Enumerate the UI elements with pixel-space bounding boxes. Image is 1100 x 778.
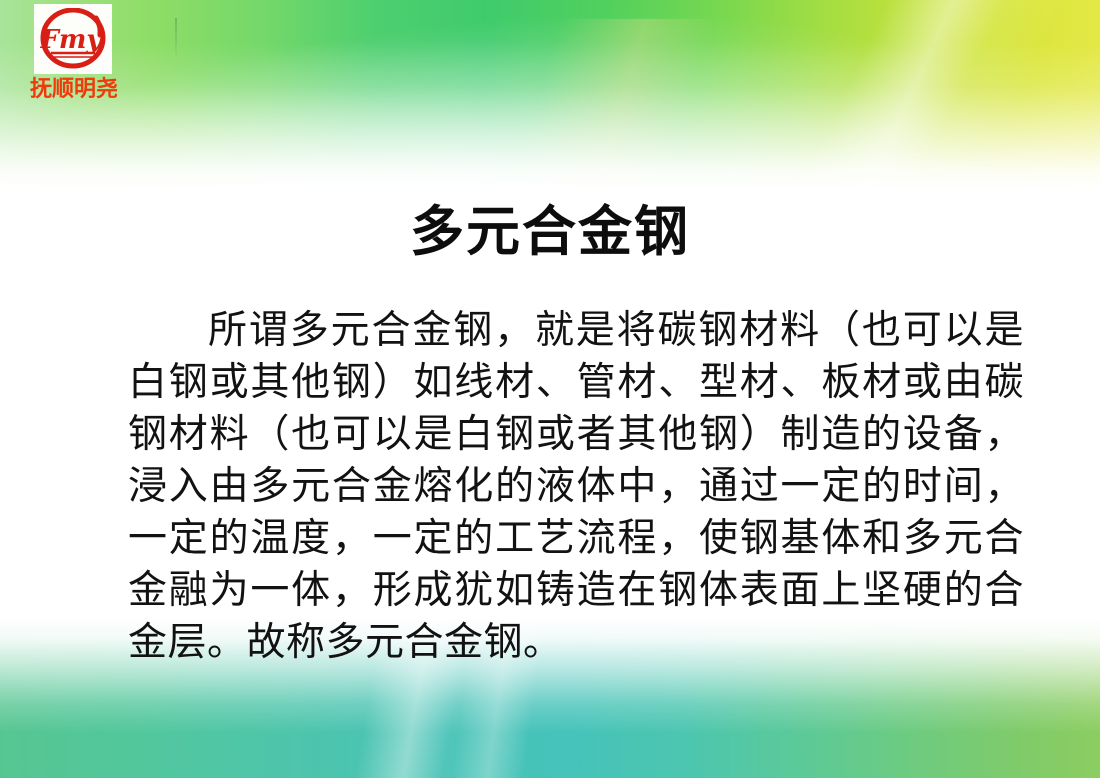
brand-logo-block: Fmy 抚顺明尧 [30, 4, 150, 102]
top-banner-vertical-line-artifact [175, 18, 177, 60]
svg-text:Fmy: Fmy [39, 25, 103, 55]
top-decorative-banner [0, 0, 1100, 190]
company-name-label: 抚顺明尧 [30, 78, 150, 102]
slide-canvas: Fmy 抚顺明尧 多元合金钢 所谓多元合金钢，就是将碳钢材料（也可以是白钢或其他… [0, 0, 1100, 778]
slide-title: 多元合金钢 [0, 204, 1100, 261]
slide-body-paragraph: 所谓多元合金钢，就是将碳钢材料（也可以是白钢或其他钢）如线材、管材、型材、板材或… [128, 305, 1024, 669]
logo-tile: Fmy [34, 4, 112, 74]
fmy-circle-logo-icon: Fmy [38, 8, 108, 70]
top-banner-fade [0, 42, 1100, 190]
